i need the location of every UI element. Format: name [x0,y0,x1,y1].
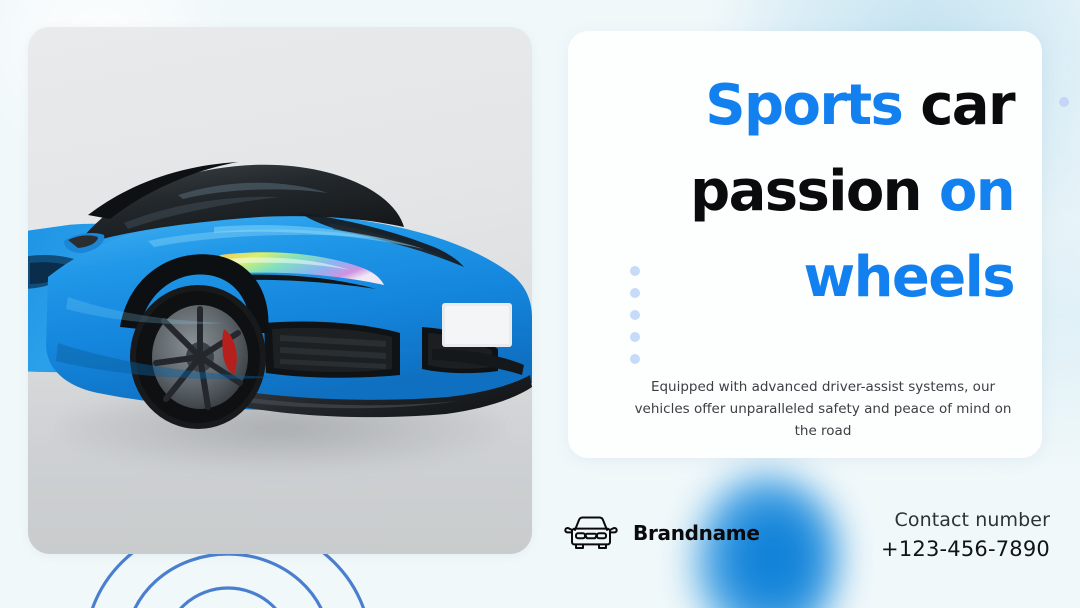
headline-line-2: passion on [596,149,1014,235]
contact-number[interactable]: +123-456-7890 [881,534,1050,564]
headline-line-3: wheels [596,235,1014,321]
decor-dot-2 [630,288,640,298]
headline-rest-passion: passion [690,159,939,224]
dot-list-decoration [630,266,640,364]
decor-dot-1 [630,266,640,276]
body-paragraph: Equipped with advanced driver-assist sys… [626,376,1020,442]
headline-accent-sports: Sports [705,73,902,138]
car-front-icon [563,513,619,553]
brand-logo[interactable]: Brandname [563,513,760,553]
floating-dot-decoration [1059,97,1069,107]
brand-name-label: Brandname [633,521,760,545]
contact-label: Contact number [881,507,1050,534]
headline-accent-on: on [939,159,1014,224]
headline-line-1: Sports car [596,63,1014,149]
decor-dot-3 [630,310,640,320]
decor-dot-5 [630,354,640,364]
headline-rest-car: car [902,73,1014,138]
photo-inner [28,27,532,554]
hero-car-photo [28,27,532,554]
headline-accent-wheels: wheels [804,245,1015,310]
page-title: Sports car passion on wheels [596,63,1014,321]
decor-dot-4 [630,332,640,342]
sports-car-illustration [28,27,532,554]
contact-block: Contact number +123-456-7890 [881,507,1050,564]
headline-card: Sports car passion on wheels Equipped wi… [568,31,1042,458]
